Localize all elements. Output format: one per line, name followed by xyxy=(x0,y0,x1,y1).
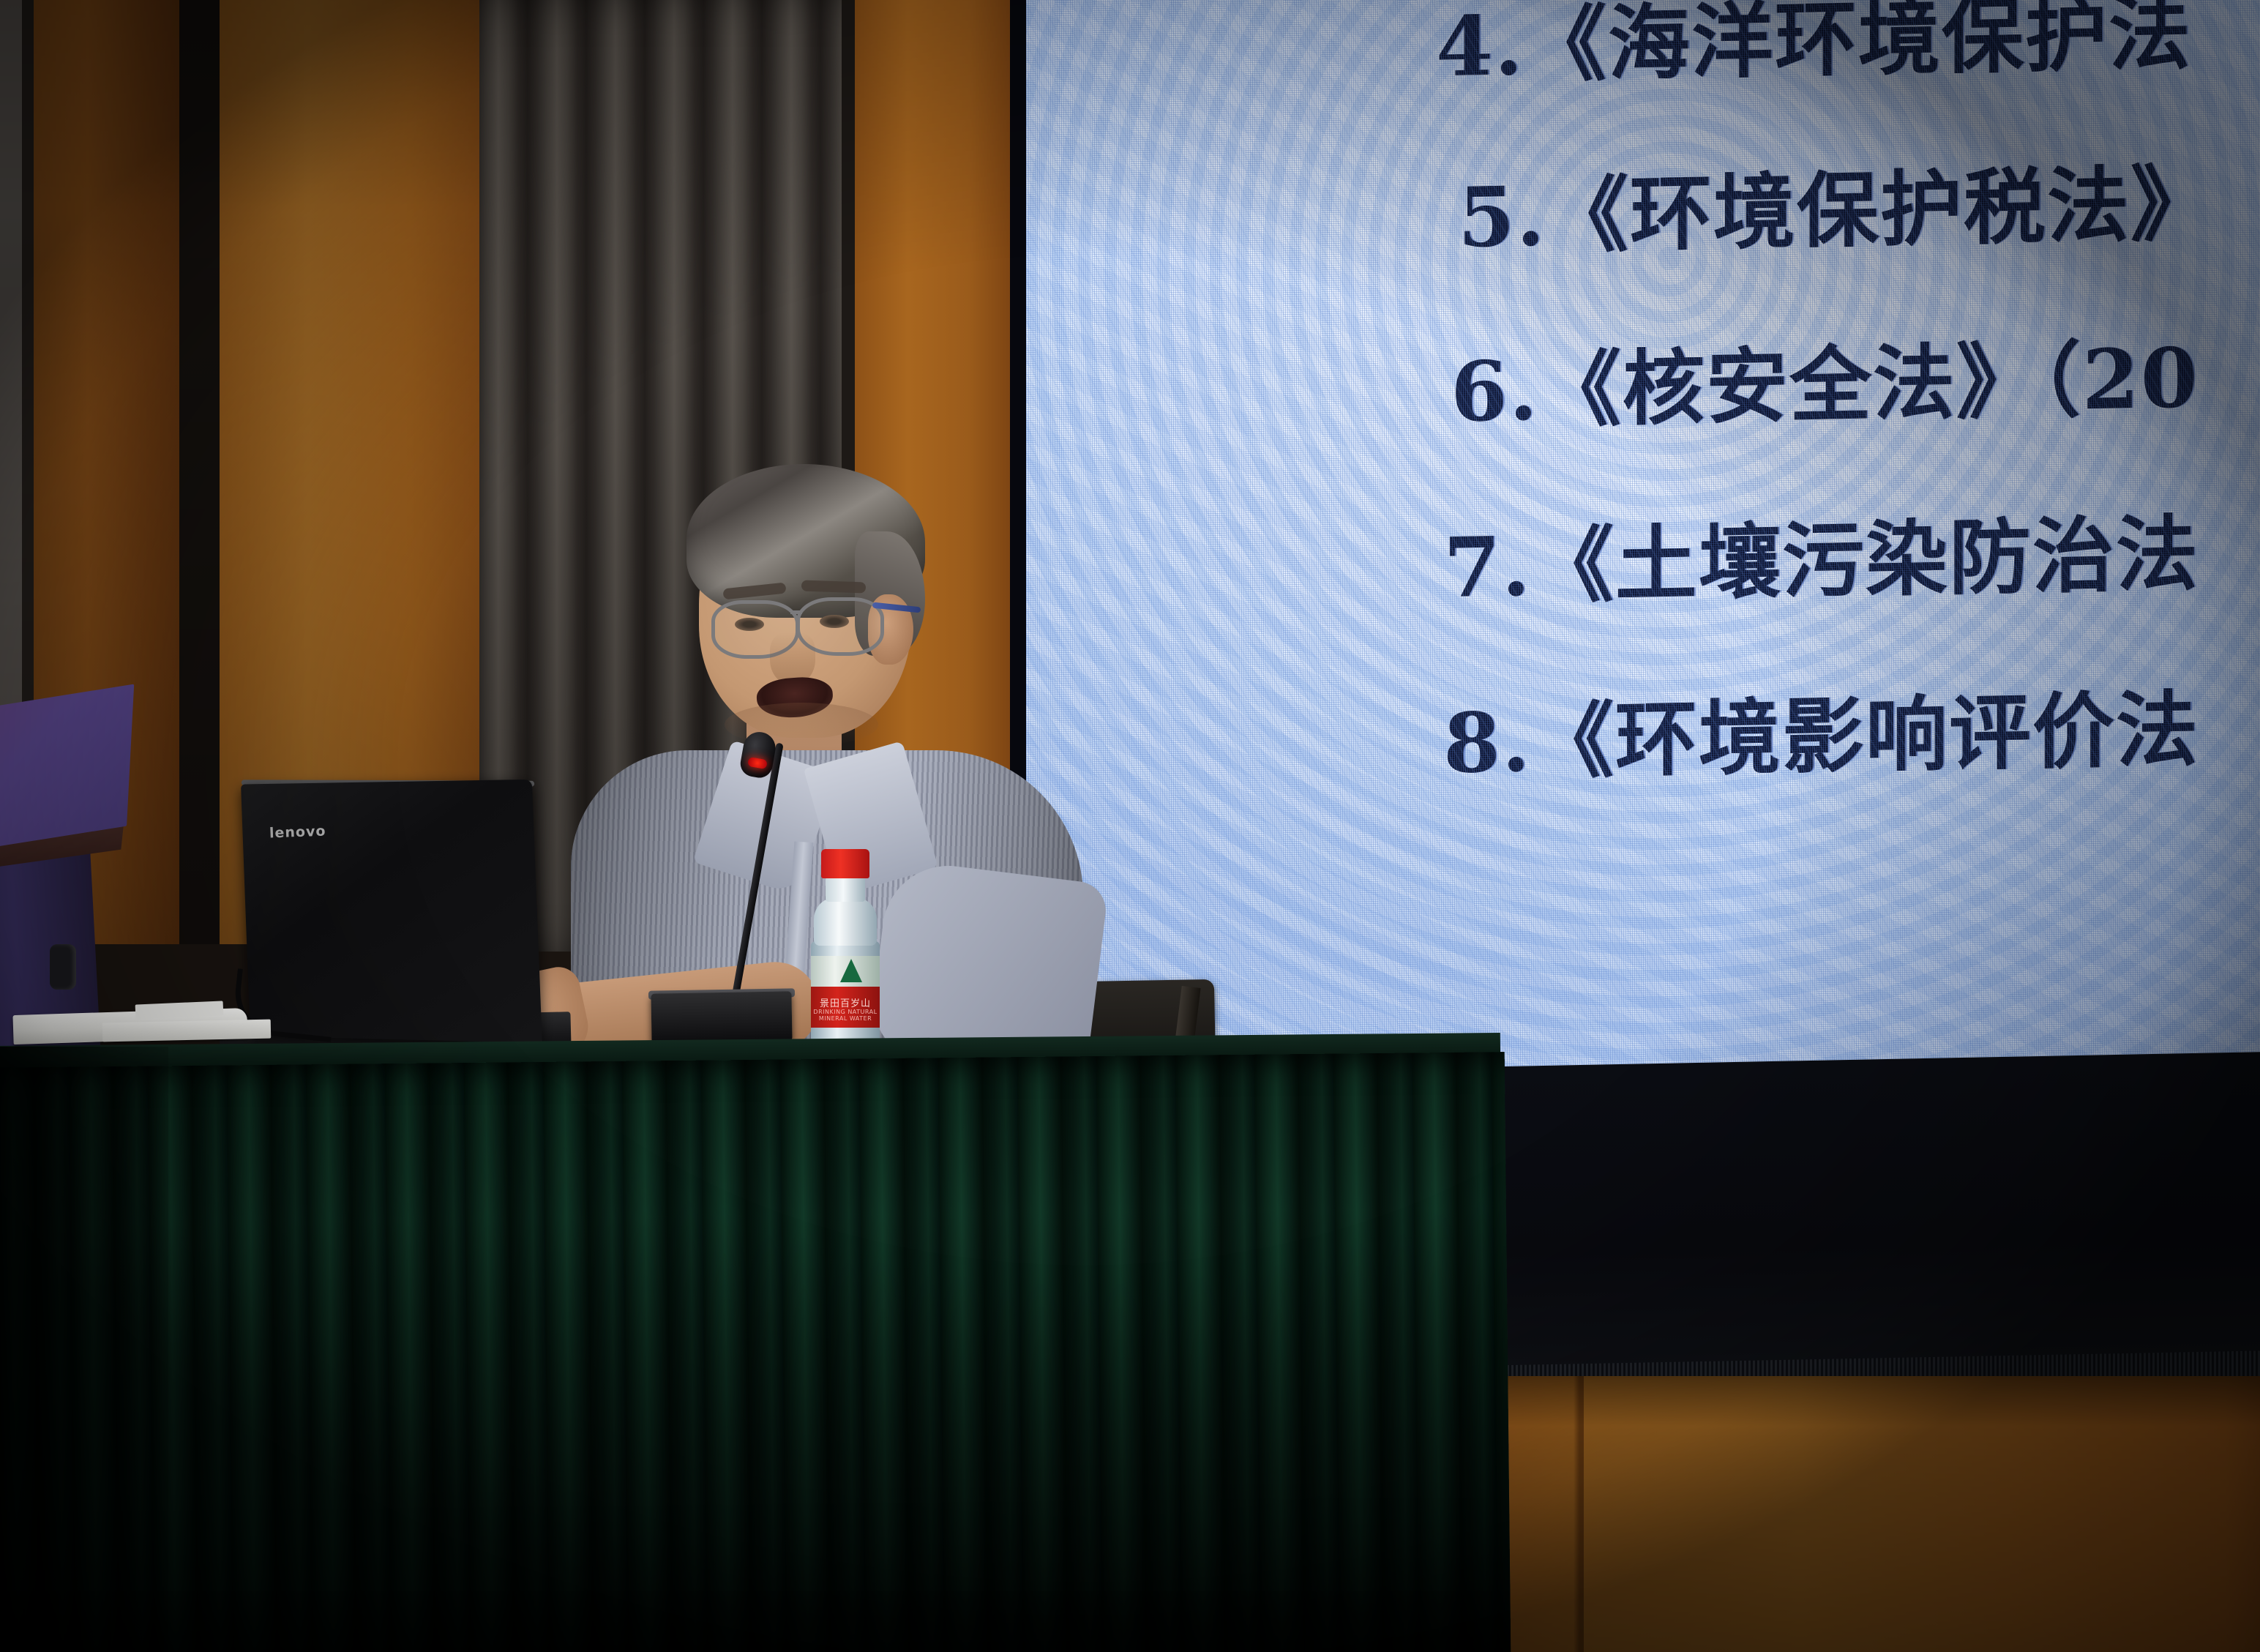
slide-line-4: 4.《海洋环境保护法 xyxy=(1436,0,2192,89)
slide-line-7: 7.《土壤污染防治法 xyxy=(1443,513,2199,610)
bottle-label-brand: 景田百岁山 xyxy=(811,995,880,1009)
glasses-bridge xyxy=(790,610,802,614)
laptop-brand-logo: lenovo xyxy=(269,823,326,842)
mountain-logo-icon xyxy=(840,959,862,982)
led-screen-panel: 3. 4.《海洋环境保护法 5.《环境保护税法》 6.《核安全法》（20 7.《… xyxy=(1026,0,2260,1099)
paper-sheet-secondary xyxy=(102,1020,271,1042)
slide-line-8: 8.《环境影响评价法 xyxy=(1443,689,2199,785)
lecture-hall-photo: 3. 4.《海洋环境保护法 5.《环境保护税法》 6.《核安全法》（20 7.《… xyxy=(0,0,2260,1652)
bottle-cap xyxy=(821,849,869,878)
presentation-slide-text: 3. 4.《海洋环境保护法 5.《环境保护税法》 6.《核安全法》（20 7.《… xyxy=(1026,0,2260,1099)
slide-line-6: 6.《核安全法》（20 xyxy=(1451,337,2199,434)
bottle-label-subtext: DRINKING NATURAL MINERAL WATER xyxy=(811,1009,880,1022)
water-bottle[interactable]: 景田百岁山 DRINKING NATURAL MINERAL WATER xyxy=(808,849,883,1045)
table-left-shadow xyxy=(0,1047,168,1652)
bottle-neck xyxy=(826,877,865,902)
lower-wood-wall-shadow xyxy=(1493,1376,2260,1652)
speaker-eyebrow-right xyxy=(801,580,866,593)
table-skirt-shadow xyxy=(0,1052,1511,1652)
bottle-shoulder xyxy=(814,897,877,946)
slide-line-5: 5.《环境保护税法》 xyxy=(1458,163,2214,260)
desk-audio-unit[interactable] xyxy=(651,991,792,1043)
podium-knob xyxy=(50,944,76,990)
